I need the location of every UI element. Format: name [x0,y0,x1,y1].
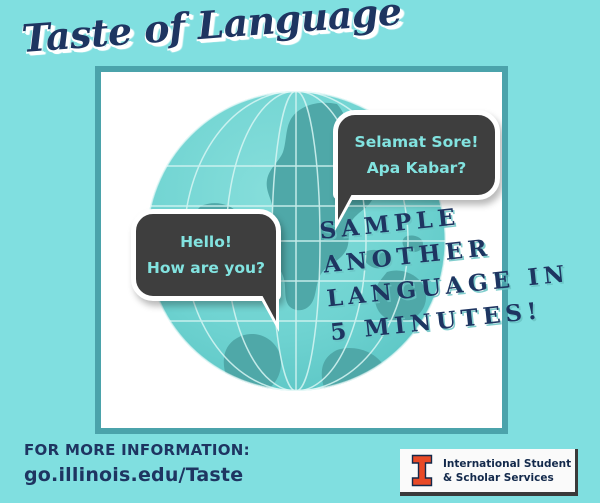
speech-bubble-indonesian: Selamat Sore! Apa Kabar? [333,110,500,200]
logo-text-line2: & Scholar Services [443,471,571,485]
page-title: Taste of Language [20,0,443,64]
info-url[interactable]: go.illinois.edu/Taste [24,461,250,489]
title-container: Taste of Language [20,0,443,70]
bubble-line: Selamat Sore! [355,129,479,155]
bubble-line: Apa Kabar? [367,155,467,181]
info-label: FOR MORE INFORMATION: [24,440,250,461]
artwork-panel: Selamat Sore! Apa Kabar? Hello! How are … [95,66,508,434]
illinois-block-i-icon [410,454,434,487]
bubble-tail-fill [262,295,276,321]
footer-info: FOR MORE INFORMATION: go.illinois.edu/Ta… [24,440,250,489]
bubble-line: How are you? [147,255,265,281]
logo-text-line1: International Student [443,457,571,471]
logo-text: International Student & Scholar Services [443,457,571,485]
poster-canvas: Taste of Language [0,0,600,503]
speech-bubble-english: Hello! How are you? [131,209,281,301]
bubble-line: Hello! [180,229,232,255]
isss-logo: International Student & Scholar Services [400,449,578,496]
bubble-tail-fill [338,194,352,220]
